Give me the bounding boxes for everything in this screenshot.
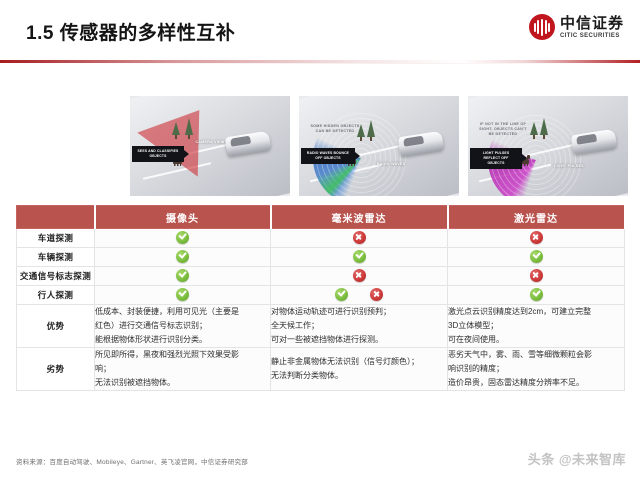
cross-icon <box>530 231 543 244</box>
source-note: 资料来源：百度自动驾驶、Mobileye、Gartner、英飞凌官网，中信证券研… <box>16 456 248 466</box>
lidar-illustration-beam-label: LIGHT PULSES <box>554 164 584 169</box>
page-title: 1.5 传感器的多样性互补 <box>26 18 235 45</box>
cross-icon <box>530 269 543 282</box>
cell-line: 可对一些被遮挡物体进行探测。 <box>271 333 447 347</box>
camera-illustration-beam-label: CAMERA VIEW <box>192 140 228 145</box>
header-divider-secondary <box>0 63 640 64</box>
check-icon <box>176 269 189 282</box>
table-row: 劣势所见即所得，黑夜和强烈光照下效果受影响；无法识别被遮挡物体。静止非金属物体无… <box>17 348 625 391</box>
cell-mmwave-radar <box>271 267 448 286</box>
lidar-illustration: IF NOT IN THE LINE OF SIGHT, OBJECTS CAN… <box>468 96 628 196</box>
cell-line: 对物体运动轨迹可进行识别预判； <box>271 305 447 319</box>
cell-line: 无法判断分类物体。 <box>271 369 447 383</box>
slide-root: 1.5 传感器的多样性互补 中信证券 CITIC SECURITIES SEES… <box>0 0 640 480</box>
cell-line: 所见即所得，黑夜和强烈光照下效果受影 <box>95 348 270 362</box>
cell-line: 造价昂贵，固态雷达精度分辨率不足。 <box>448 376 624 390</box>
check-icon <box>353 250 366 263</box>
table-row: 车道探测 <box>17 229 625 248</box>
cell-line: 可在夜间使用。 <box>448 333 624 347</box>
cell-lidar <box>448 229 625 248</box>
row-label: 交通信号标志探测 <box>17 267 95 286</box>
table-row: 优势低成本、封装便捷，利用可见光（主要是红色）进行交通信号标志识别；能根据物体形… <box>17 305 625 348</box>
radar-illustration-beam-label: RADIO WAVES <box>375 162 407 167</box>
cell-camera <box>95 229 271 248</box>
cross-icon <box>370 288 383 301</box>
cell-camera <box>95 248 271 267</box>
cell-camera <box>95 267 271 286</box>
sensor-comparison-table: 摄像头 毫米波雷达 激光雷达 车道探测车辆探测交通信号标志探测行人探测优势低成本… <box>16 205 626 391</box>
radar-illustration-note: SOME HIDDEN OBJECTS CAN BE DETECTED <box>309 124 361 134</box>
lidar-illustration-tag: LIGHT PULSES REFLECT OFF OBJECTS <box>470 148 522 169</box>
camera-illustration-tag: SEES AND CLASSIFIES OBJECTS <box>132 146 184 162</box>
table-row: 交通信号标志探测 <box>17 267 625 286</box>
logo-text-cn: 中信证券 <box>560 16 624 31</box>
illustration-strip: SEES AND CLASSIFIES OBJECTS CAMERA VIEW … <box>130 96 630 196</box>
cell-lidar <box>448 267 625 286</box>
check-icon <box>335 288 348 301</box>
table-row: 行人探测 <box>17 286 625 305</box>
table-row: 车辆探测 <box>17 248 625 267</box>
watermark: 头条 @未来智库 <box>528 449 626 468</box>
cell-line: 静止非金属物体无法识别（信号灯颜色）； <box>271 355 447 369</box>
row-label: 车道探测 <box>17 229 95 248</box>
cell-mmwave-radar: 对物体运动轨迹可进行识别预判；全天候工作；可对一些被遮挡物体进行探测。 <box>271 305 448 348</box>
cell-line: 无法识别被遮挡物体。 <box>95 376 270 390</box>
cell-mmwave-radar: 静止非金属物体无法识别（信号灯颜色）；无法判断分类物体。 <box>271 348 448 391</box>
cell-lidar: 恶劣天气中，雾、雨、雪等细微颗粒会影响识别的精度；造价昂贵，固态雷达精度分辨率不… <box>448 348 625 391</box>
table-corner-cell <box>17 206 95 229</box>
cell-line: 恶劣天气中，雾、雨、雪等细微颗粒会影 <box>448 348 624 362</box>
citic-logo-icon <box>529 14 555 40</box>
check-icon <box>176 231 189 244</box>
cell-lidar <box>448 248 625 267</box>
cell-line: 能根据物体形状进行识别分类。 <box>95 333 270 347</box>
check-icon <box>530 288 543 301</box>
table-body: 车道探测车辆探测交通信号标志探测行人探测优势低成本、封装便捷，利用可见光（主要是… <box>17 229 625 391</box>
column-header-mmwave-radar: 毫米波雷达 <box>271 206 448 229</box>
row-label: 优势 <box>17 305 95 348</box>
cell-camera: 低成本、封装便捷，利用可见光（主要是红色）进行交通信号标志识别；能根据物体形状进… <box>95 305 271 348</box>
cell-line: 红色）进行交通信号标志识别； <box>95 319 270 333</box>
citic-logo: 中信证券 CITIC SECURITIES <box>529 14 624 40</box>
cell-mmwave-radar <box>271 248 448 267</box>
radar-illustration: SOME HIDDEN OBJECTS CAN BE DETECTED RADI… <box>299 96 459 196</box>
cross-icon <box>353 269 366 282</box>
column-header-lidar: 激光雷达 <box>448 206 625 229</box>
cell-lidar: 激光点云识别精度达到2cm，可建立完整3D立体模型；可在夜间使用。 <box>448 305 625 348</box>
cell-line: 响； <box>95 362 270 376</box>
cell-line: 全天候工作； <box>271 319 447 333</box>
cell-lidar <box>448 286 625 305</box>
check-icon <box>530 250 543 263</box>
cell-line: 3D立体模型； <box>448 319 624 333</box>
cell-camera <box>95 286 271 305</box>
logo-text-en: CITIC SECURITIES <box>560 33 624 39</box>
cell-line: 响识别的精度； <box>448 362 624 376</box>
cell-mmwave-radar <box>271 286 448 305</box>
row-label: 车辆探测 <box>17 248 95 267</box>
check-icon <box>176 288 189 301</box>
camera-illustration: SEES AND CLASSIFIES OBJECTS CAMERA VIEW <box>130 96 290 196</box>
cell-camera: 所见即所得，黑夜和强烈光照下效果受影响；无法识别被遮挡物体。 <box>95 348 271 391</box>
cell-line: 低成本、封装便捷，利用可见光（主要是 <box>95 305 270 319</box>
column-header-camera: 摄像头 <box>95 206 271 229</box>
table-header-row: 摄像头 毫米波雷达 激光雷达 <box>17 206 625 229</box>
cell-line: 激光点云识别精度达到2cm，可建立完整 <box>448 305 624 319</box>
cross-icon <box>353 231 366 244</box>
lidar-illustration-note: IF NOT IN THE LINE OF SIGHT, OBJECTS CAN… <box>476 122 530 137</box>
cell-mmwave-radar <box>271 229 448 248</box>
radar-illustration-tag: RADIO WAVES BOUNCE OFF OBJECTS <box>301 148 355 164</box>
row-label: 行人探测 <box>17 286 95 305</box>
check-icon <box>176 250 189 263</box>
row-label: 劣势 <box>17 348 95 391</box>
